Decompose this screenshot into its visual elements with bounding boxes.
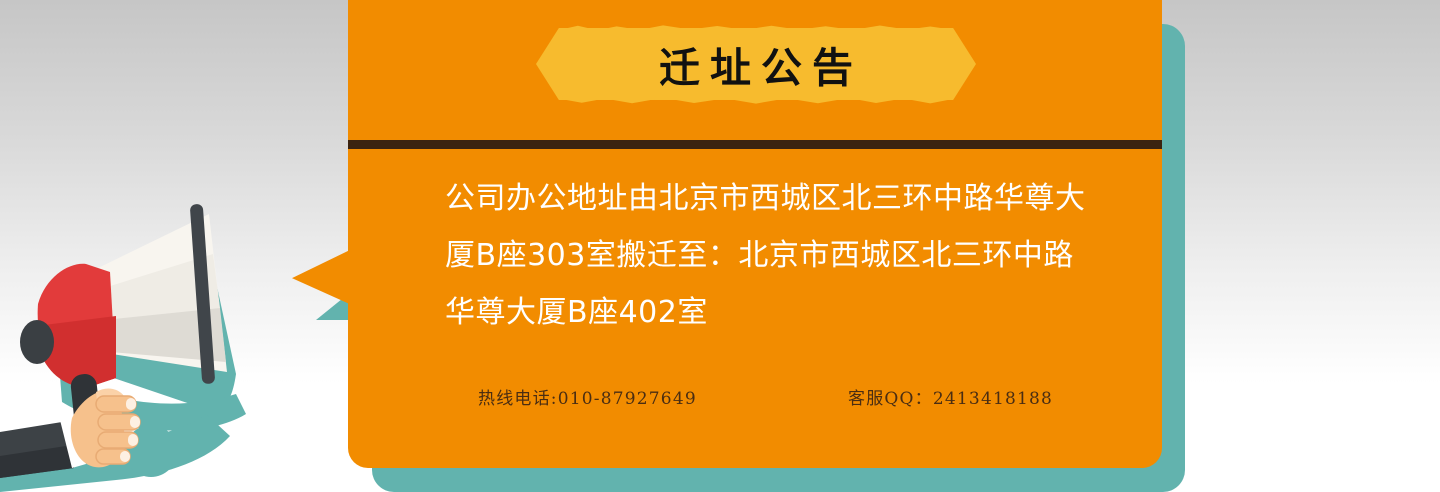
header-divider xyxy=(348,140,1162,149)
customer-service-qq: 客服QQ：2413418188 xyxy=(848,384,1053,409)
announcement-card: 迁址公告 公司办公地址由北京市西城区北三环中路华尊大厦B座303室搬迁至：北京市… xyxy=(348,0,1162,468)
title-badge: 迁址公告 xyxy=(536,28,976,100)
hand-holding-megaphone-illustration xyxy=(0,196,300,492)
page-title: 迁址公告 xyxy=(536,28,976,100)
speech-tail-orange xyxy=(292,248,354,306)
hotline-phone: 热线电话:010-87927649 xyxy=(478,384,697,409)
announcement-body: 公司办公地址由北京市西城区北三环中路华尊大厦B座303室搬迁至：北京市西城区北三… xyxy=(445,170,1095,341)
poster-canvas: 迁址公告 公司办公地址由北京市西城区北三环中路华尊大厦B座303室搬迁至：北京市… xyxy=(0,0,1440,492)
contact-footer: 热线电话:010-87927649 客服QQ：2413418188 xyxy=(348,384,1162,416)
